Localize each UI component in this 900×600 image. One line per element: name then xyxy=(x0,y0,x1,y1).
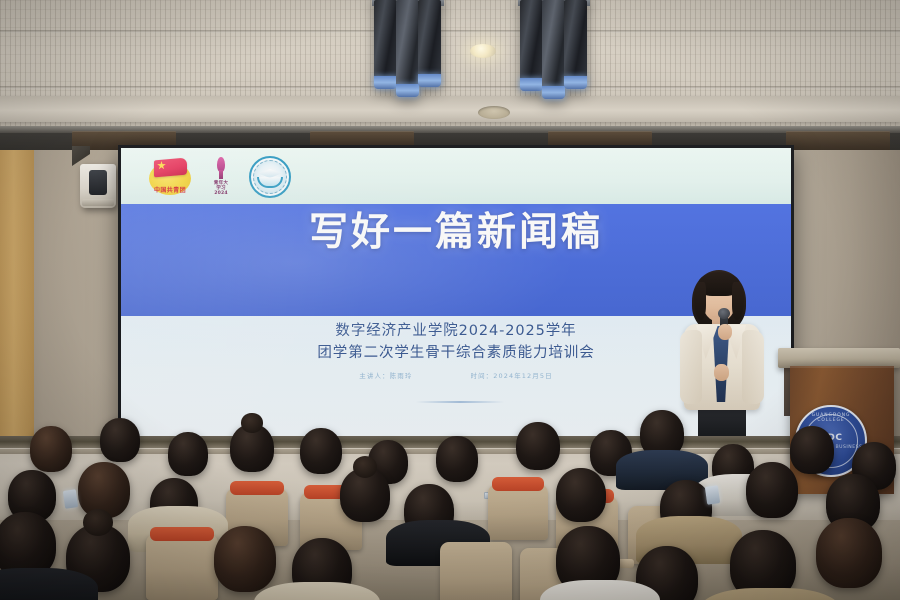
ceiling-projector-right xyxy=(518,0,590,100)
projector-lens-glow xyxy=(542,86,565,99)
projector-blade xyxy=(542,0,565,98)
ceiling xyxy=(0,0,900,132)
torch-caption: 青年大 学习 2024 xyxy=(206,181,236,197)
communist-youth-league-emblem-icon: 中国共青团 xyxy=(147,157,193,197)
ceiling-beam xyxy=(0,96,900,122)
ceiling-seam xyxy=(0,86,900,89)
presenter-arm-left xyxy=(680,330,702,404)
emblem-caption: 中国共青团 xyxy=(152,185,188,194)
torch-logo-icon: 青年大 学习 2024 xyxy=(206,156,236,198)
slide-date-label: 时间：2024年12月5日 xyxy=(470,370,552,380)
torch-stem xyxy=(219,170,223,179)
projector-lens-glow xyxy=(520,78,543,91)
wall-mounted-loudspeaker xyxy=(80,164,116,208)
slide-presenter-label: 主讲人：陈雨玲 xyxy=(359,370,412,380)
audience-head xyxy=(340,468,390,522)
audience-head xyxy=(300,428,342,474)
audience-shoulders xyxy=(700,588,840,600)
presenter-hair-left xyxy=(694,282,706,320)
audience-head xyxy=(746,462,798,518)
auditorium-seat xyxy=(488,484,548,540)
podium-top-surface xyxy=(778,348,900,368)
projector-blade xyxy=(564,0,587,88)
speaker-grill xyxy=(89,170,108,195)
ceiling-seam xyxy=(0,30,900,33)
projector-blade xyxy=(374,0,397,88)
seat-cushion xyxy=(492,477,545,491)
audience-head xyxy=(30,426,72,472)
audience-phone xyxy=(63,489,78,509)
audience-head xyxy=(816,518,882,588)
projector-blade xyxy=(396,0,419,96)
audience-head xyxy=(790,426,834,474)
audience-head xyxy=(214,526,276,592)
microphone-head-icon xyxy=(718,308,730,319)
auditorium-seat xyxy=(440,542,512,600)
audience-head xyxy=(100,418,140,462)
presenter-arm-right xyxy=(742,330,764,404)
slide-logo-row: 中国共青团 青年大 学习 2024 xyxy=(147,154,291,200)
ceiling-projector-left xyxy=(372,0,444,100)
emblem-flag xyxy=(154,158,187,178)
audience xyxy=(0,396,900,600)
projector-blade xyxy=(520,0,543,90)
projector-lens-glow xyxy=(396,84,419,97)
auditorium-scene: 中国共青团 青年大 学习 2024 写好一篇新闻稿 数字经济产业学院2024-2… xyxy=(0,0,900,600)
ceiling-speaker-can xyxy=(478,106,510,119)
auditorium-seat xyxy=(146,534,218,600)
speaker-lip xyxy=(82,199,114,206)
projector-blade xyxy=(418,0,441,86)
seat-cushion xyxy=(230,481,285,495)
projector-lens-glow xyxy=(564,76,587,89)
ceiling-downlight xyxy=(470,44,496,58)
college-academic-seal-icon xyxy=(249,156,291,198)
audience-phone xyxy=(705,485,720,505)
projector-lens-glow xyxy=(374,76,397,89)
audience-head xyxy=(436,436,478,482)
projector-lens-glow xyxy=(418,74,441,87)
seat-cushion xyxy=(150,527,213,541)
presenter-hand-right xyxy=(718,324,732,340)
audience-shoulders xyxy=(254,582,380,600)
torch-caption-line3: 2024 xyxy=(206,191,236,196)
slide-title: 写好一篇新闻稿 xyxy=(121,210,791,256)
audience-head xyxy=(230,424,274,472)
presenter-hand-left xyxy=(714,364,729,381)
audience-head xyxy=(168,432,208,476)
audience-head xyxy=(556,468,606,522)
audience-head xyxy=(516,422,560,470)
